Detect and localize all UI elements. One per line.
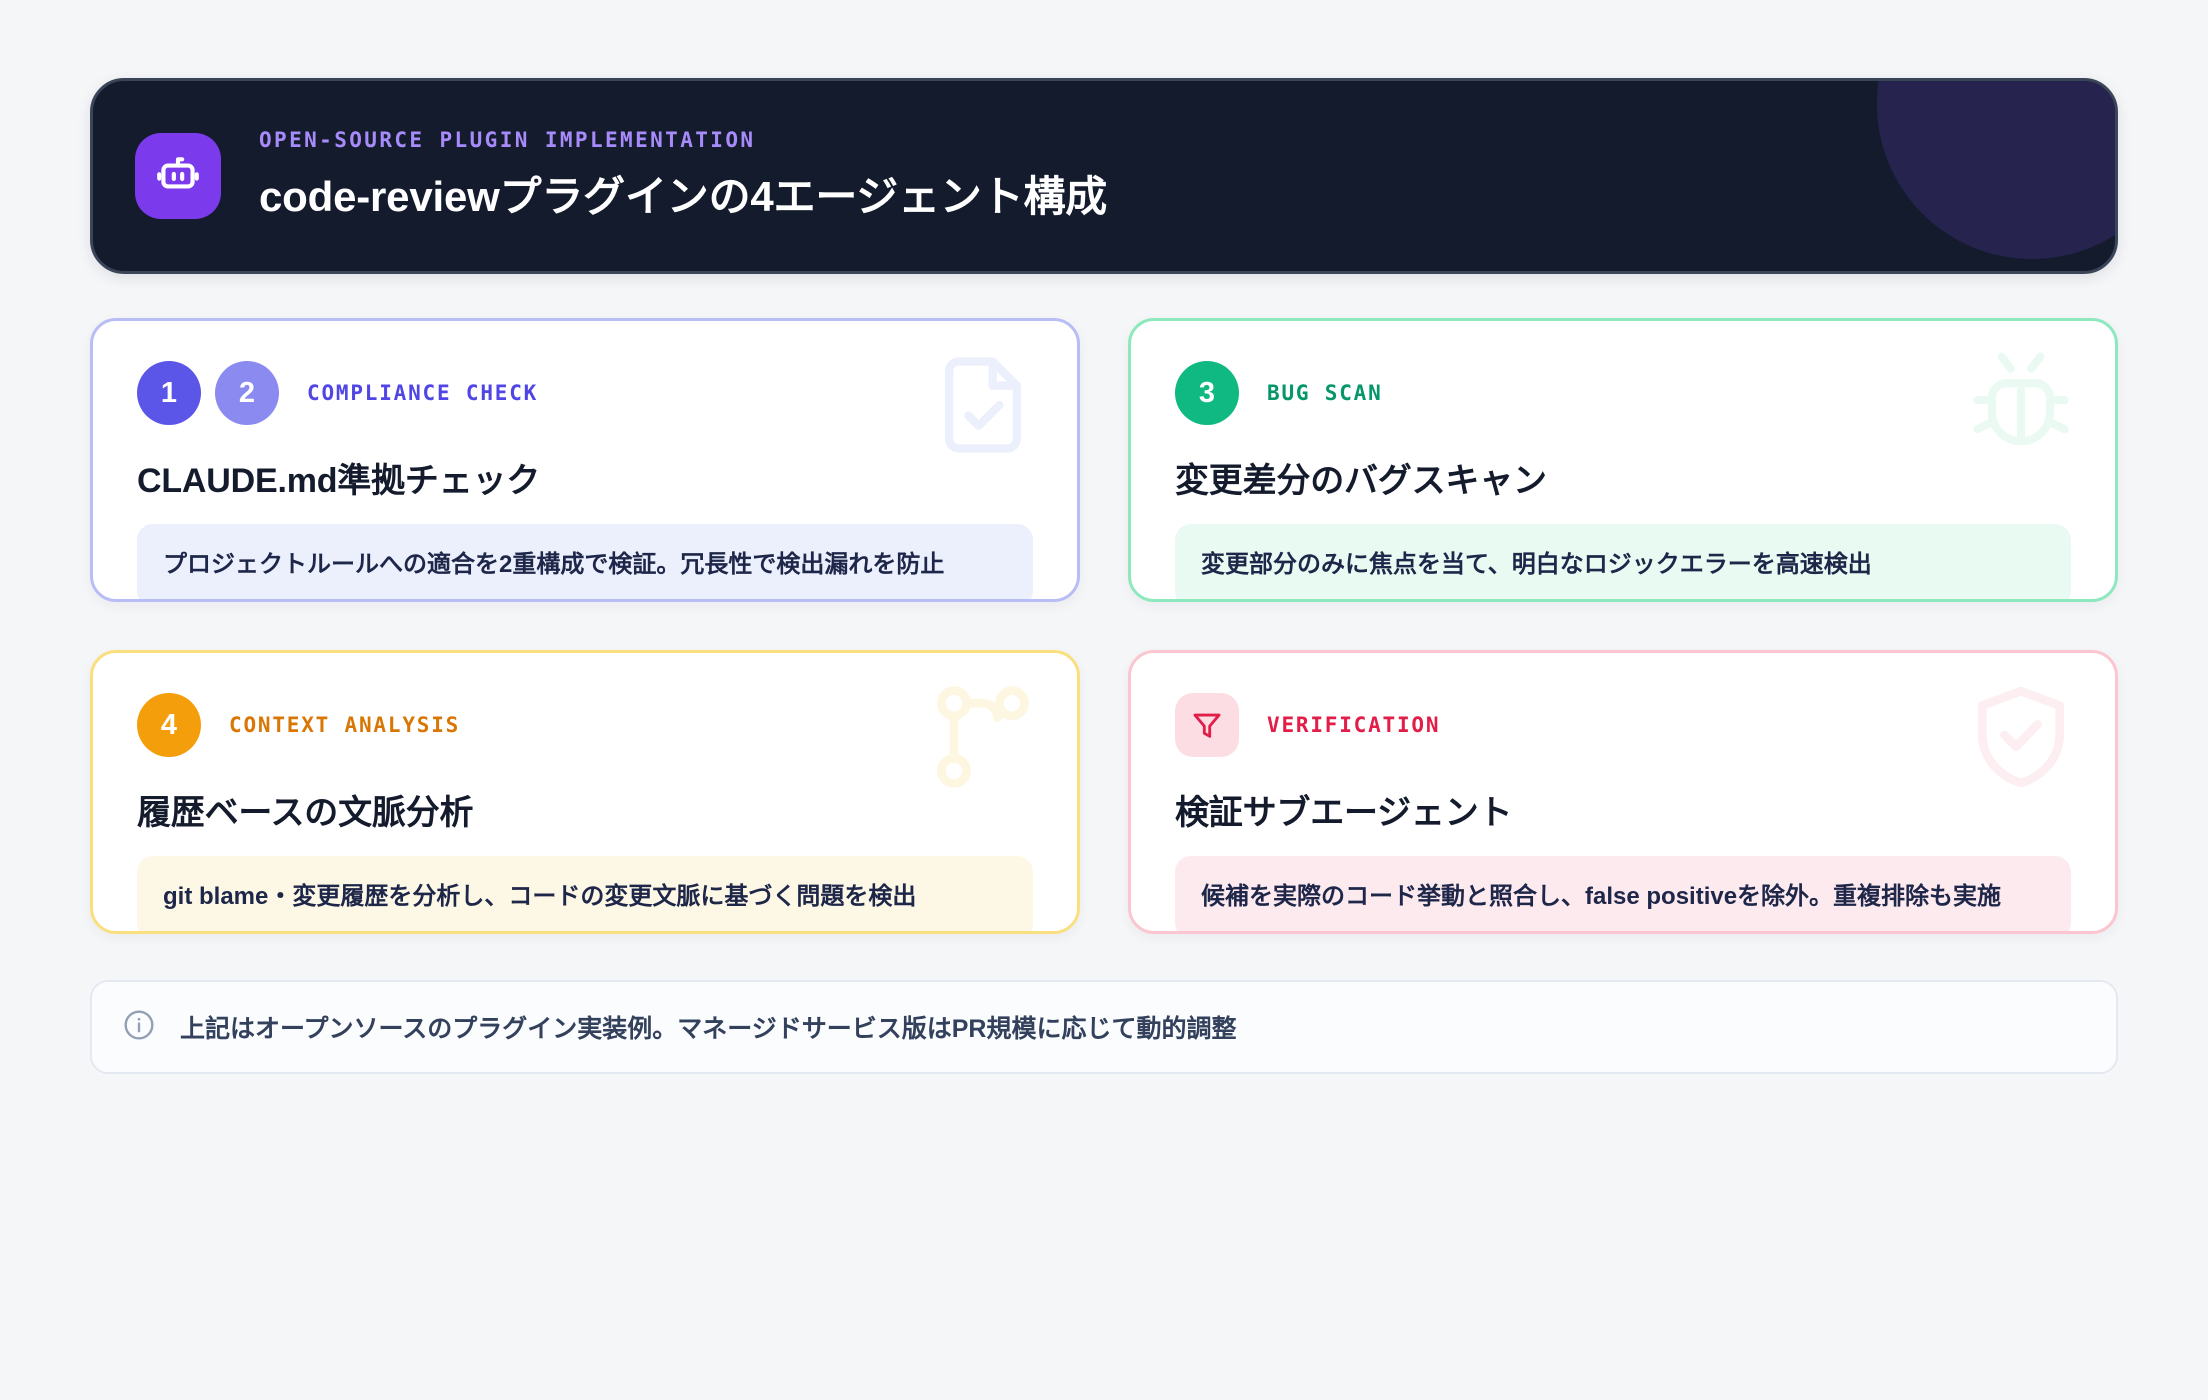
card-kicker: BUG SCAN xyxy=(1267,381,1383,405)
card-header-row: 3 BUG SCAN xyxy=(1175,359,2071,427)
step-number-badge: 2 xyxy=(215,361,279,425)
footer-note-text: 上記はオープンソースのプラグイン実装例。マネージドサービス版はPR規模に応じて動… xyxy=(180,1009,1236,1045)
card-kicker: CONTEXT ANALYSIS xyxy=(229,713,460,737)
card-header-row: 4 CONTEXT ANALYSIS xyxy=(137,691,1033,759)
card-title: 検証サブエージェント xyxy=(1175,785,2071,834)
agent-card-grid: 1 2 COMPLIANCE CHECK CLAUDE.md準拠チェック プロジ… xyxy=(90,318,2118,934)
card-title: 履歴ベースの文脈分析 xyxy=(137,785,1033,834)
header-banner: OPEN-SOURCE PLUGIN IMPLEMENTATION code-r… xyxy=(90,78,2118,274)
card-kicker: VERIFICATION xyxy=(1267,713,1440,737)
header-text-group: OPEN-SOURCE PLUGIN IMPLEMENTATION code-r… xyxy=(259,128,1107,224)
footer-note: 上記はオープンソースのプラグイン実装例。マネージドサービス版はPR規模に応じて動… xyxy=(90,980,2118,1074)
step-number-badge: 1 xyxy=(137,361,201,425)
card-description: git blame・変更履歴を分析し、コードの変更文脈に基づく問題を検出 xyxy=(137,856,1033,934)
card-kicker: COMPLIANCE CHECK xyxy=(307,381,538,405)
card-description: 変更部分のみに焦点を当て、明白なロジックエラーを高速検出 xyxy=(1175,524,2071,602)
info-icon xyxy=(122,1008,156,1047)
header-decorative-circle xyxy=(1877,78,2118,259)
robot-icon xyxy=(135,133,221,219)
agent-card-verification[interactable]: VERIFICATION 検証サブエージェント 候補を実際のコード挙動と照合し、… xyxy=(1128,650,2118,934)
agent-card-context-analysis[interactable]: 4 CONTEXT ANALYSIS 履歴ベースの文脈分析 git blame・… xyxy=(90,650,1080,934)
step-number-badge: 3 xyxy=(1175,361,1239,425)
funnel-icon xyxy=(1175,693,1239,757)
page-title: code-reviewプラグインの4エージェント構成 xyxy=(259,163,1107,224)
slide-root: OPEN-SOURCE PLUGIN IMPLEMENTATION code-r… xyxy=(0,0,2208,1400)
header-eyebrow: OPEN-SOURCE PLUGIN IMPLEMENTATION xyxy=(259,128,1107,152)
card-title: CLAUDE.md準拠チェック xyxy=(137,453,1033,502)
agent-card-bug-scan[interactable]: 3 BUG SCAN 変更差分のバグスキャン 変更部分のみに焦点を当て、明白なロ… xyxy=(1128,318,2118,602)
step-number-badge: 4 xyxy=(137,693,201,757)
card-header-row: VERIFICATION xyxy=(1175,691,2071,759)
card-description: プロジェクトルールへの適合を2重構成で検証。冗長性で検出漏れを防止 xyxy=(137,524,1033,602)
card-description: 候補を実際のコード挙動と照合し、false positiveを除外。重複排除も実… xyxy=(1175,856,2071,934)
card-header-row: 1 2 COMPLIANCE CHECK xyxy=(137,359,1033,427)
card-title: 変更差分のバグスキャン xyxy=(1175,453,2071,502)
agent-card-compliance-check[interactable]: 1 2 COMPLIANCE CHECK CLAUDE.md準拠チェック プロジ… xyxy=(90,318,1080,602)
